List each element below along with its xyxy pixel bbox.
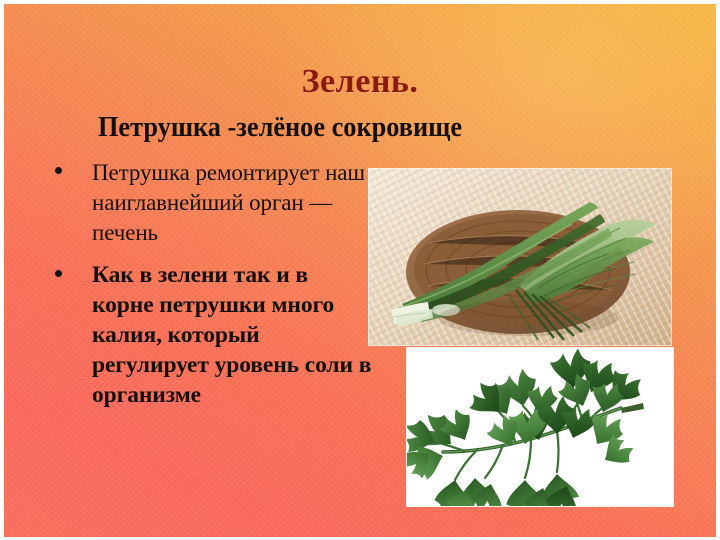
slide-subtitle: Петрушка -зелёное сокровище bbox=[17, 113, 543, 144]
list-item: Как в зелени так и в корне петрушки мног… bbox=[44, 260, 374, 410]
list-item: Петрушка ремонтирует наш наиглавнейший о… bbox=[44, 158, 374, 248]
list-item-text: Как в зелени так и в корне петрушки мног… bbox=[92, 260, 374, 410]
parsley-sprig-illustration bbox=[407, 348, 673, 506]
bullet-list: Петрушка ремонтирует наш наиглавнейший о… bbox=[44, 158, 374, 422]
page-title: Зелень. bbox=[0, 64, 720, 100]
presentation-slide: Зелень. Петрушка -зелёное сокровище Петр… bbox=[0, 0, 720, 540]
green-onions-and-dill-illustration bbox=[368, 168, 672, 346]
bullet-dot-icon bbox=[55, 270, 62, 277]
parsley-sprig-photo bbox=[406, 347, 674, 507]
list-item-text: Петрушка ремонтирует наш наиглавнейший о… bbox=[92, 158, 374, 248]
green-onions-and-dill-photo bbox=[368, 168, 672, 346]
bullet-dot-icon bbox=[55, 167, 62, 174]
